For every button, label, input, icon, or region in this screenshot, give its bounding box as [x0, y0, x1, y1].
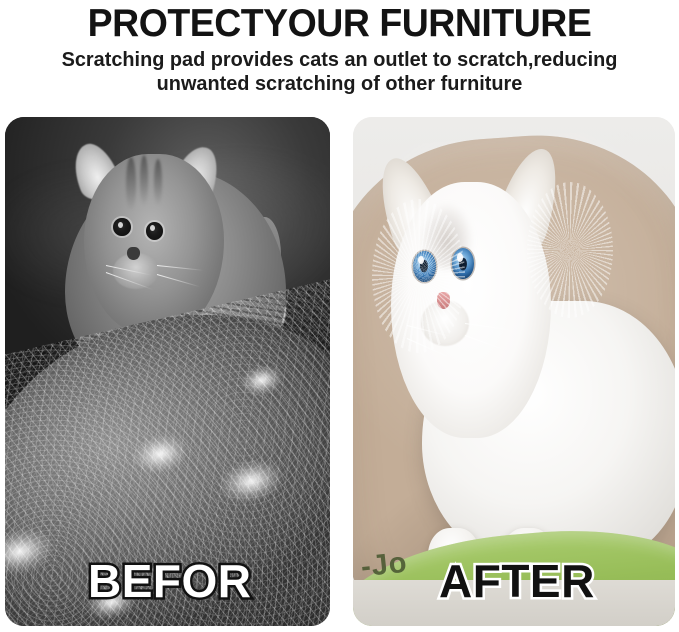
cat-head — [84, 154, 223, 334]
promo-header: PROTECTYOUR FURNITURE Scratching pad pro… — [0, 0, 679, 96]
subtitle-line-1: Scratching pad provides cats an outlet t… — [10, 48, 669, 72]
cat-whisker — [157, 265, 204, 271]
cat-forehead-stripe — [126, 157, 136, 211]
cat-forehead-stripe — [154, 159, 162, 206]
page-subtitle: Scratching pad provides cats an outlet t… — [10, 46, 669, 96]
cat-eye-right — [146, 222, 163, 240]
brand-band-text: -Jo — [359, 547, 409, 585]
subtitle-line-2: unwanted scratching of other furniture — [10, 72, 669, 96]
cat-eye-left — [113, 218, 130, 236]
before-label: BEFOR — [88, 558, 252, 604]
after-panel: -Jo AFTER — [353, 117, 675, 626]
comparison-panels: BEFOR — [0, 117, 679, 629]
after-label: AFTER — [439, 558, 595, 604]
cat-whisker — [157, 274, 200, 287]
cat-nose — [127, 247, 140, 260]
before-panel: BEFOR — [5, 117, 330, 626]
cat-fur-ruff — [527, 182, 614, 319]
cat-whisker — [464, 335, 510, 352]
cat-fur-ruff — [372, 199, 465, 353]
page-title: PROTECTYOUR FURNITURE — [14, 2, 666, 46]
cat-forehead-stripe — [140, 155, 148, 205]
cat-whisker — [464, 323, 515, 331]
